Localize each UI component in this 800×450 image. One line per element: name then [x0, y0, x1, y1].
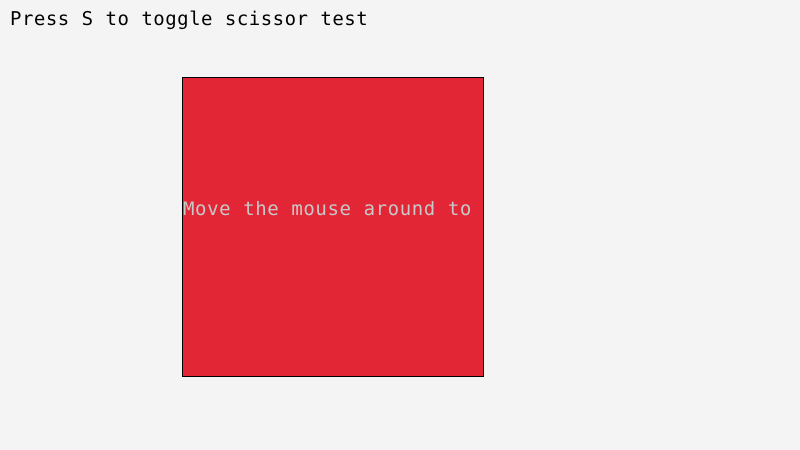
scissor-rectangle[interactable]: Move the mouse around to reveal the rest…: [182, 77, 484, 377]
clipped-message-text: Move the mouse around to reveal the rest…: [183, 198, 484, 220]
raylib-scissor-test-canvas[interactable]: Press S to toggle scissor test Move the …: [0, 0, 800, 450]
instruction-text: Press S to toggle scissor test: [10, 8, 368, 30]
